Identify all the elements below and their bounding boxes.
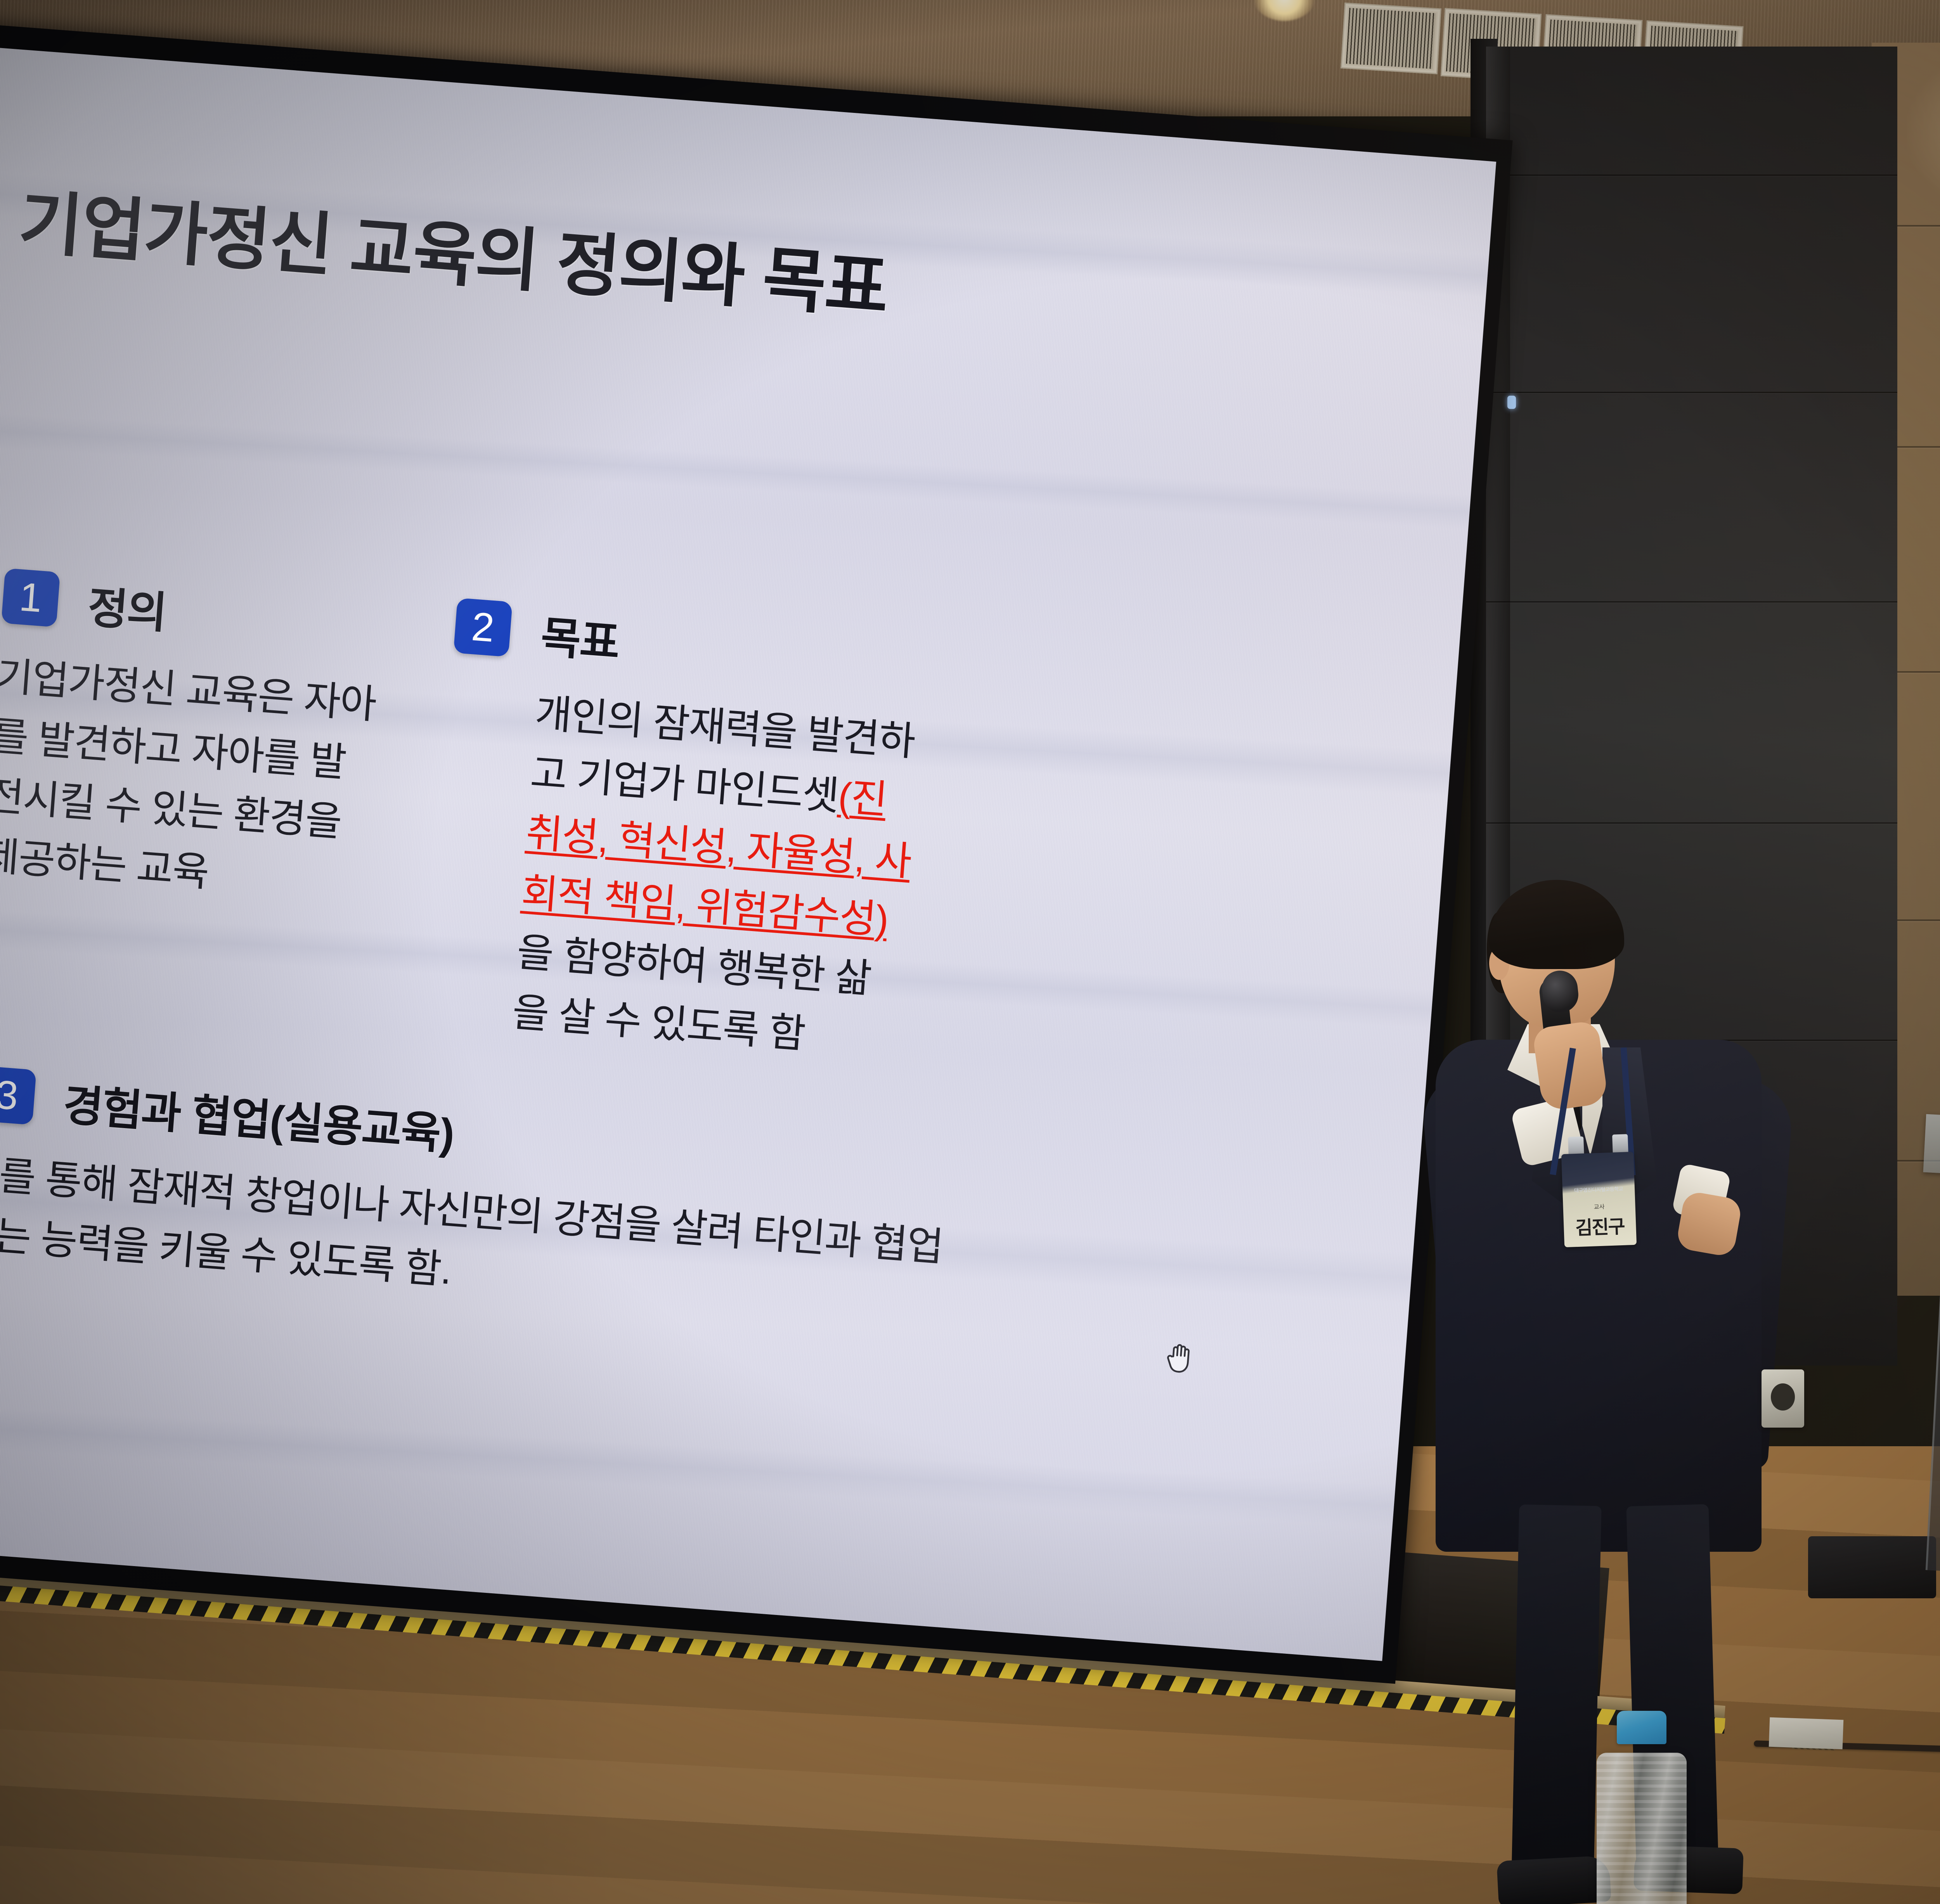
dark-wall-seam [1486,822,1897,824]
section-3-number-badge: 3 [0,1066,36,1125]
wall-power-outlet[interactable] [1762,1369,1804,1428]
ceiling-vent-1 [1341,3,1441,74]
floor-equipment-box [1808,1536,1936,1598]
section-2-number-badge: 2 [453,598,512,657]
grab-hand-cursor[interactable] [1164,1340,1197,1377]
presentation-slide: 기업가정신 교육의 정의와 목표 1 정의 기업가정신 교육은 자아를 발견하고… [0,47,1496,1661]
water-bottle-left[interactable] [1597,1718,1687,1904]
section-2-heading: 목표 [539,602,622,671]
badge-role: 교사 [1563,1201,1635,1212]
door-indicator-light [1507,396,1516,409]
section-3-heading: 경험과 협업(실용교육) [61,1070,456,1162]
section-3-body: 이를 통해 잠재적 창업이나 자신만의 강점을 살려 타인과 협업하는 능력을 … [0,1143,956,1338]
section-2-body: 개인의 잠재력을 발견하고 기업가 마인드셋(진취성, 혁신성, 자율성, 사회… [510,683,924,1071]
floor-paper-sheet [1769,1717,1844,1750]
screenshot-root: 기업가정신 교육의 정의와 목표 1 정의 기업가정신 교육은 자아를 발견하고… [0,0,1940,1904]
wall-light-glow [1907,31,1940,233]
dark-wall-seam [1486,175,1897,176]
bottle-cap [1617,1711,1666,1744]
section-2-body-post: 을 함양하여 행복한 삶을 살 수 있도록 함 [511,929,873,1056]
dark-wall-seam [1486,601,1897,602]
slide-title: 기업가정신 교육의 정의와 목표 [16,166,892,332]
section-1-heading: 정의 [86,572,169,641]
presenter-left-shoe [1497,1855,1611,1904]
presenter-left-leg [1511,1504,1601,1898]
grab-hand-cursor-glyph [1164,1340,1197,1377]
section-1-number-badge: 1 [1,568,60,627]
badge-name: 김진구 [1563,1211,1636,1240]
bottle-ribs [1597,1753,1687,1904]
dark-wall-seam [1486,392,1897,393]
section-1-body: 기업가정신 교육은 자아를 발견하고 자아를 발전시킬 수 있는 환경을 제공하… [0,646,382,914]
presenter-right-hand [1675,1190,1743,1258]
projection-screen-assembly: 기업가정신 교육의 정의와 목표 1 정의 기업가정신 교육은 자아를 발견하고… [0,23,1513,1684]
led-display-screen[interactable]: 기업가정신 교육의 정의와 목표 1 정의 기업가정신 교육은 자아를 발견하고… [0,47,1496,1661]
presenter-name-badge: 대구영진디지털고등학교 교사 김진구 [1561,1152,1637,1247]
badge-organization: 대구영진디지털고등학교 [1562,1184,1635,1194]
